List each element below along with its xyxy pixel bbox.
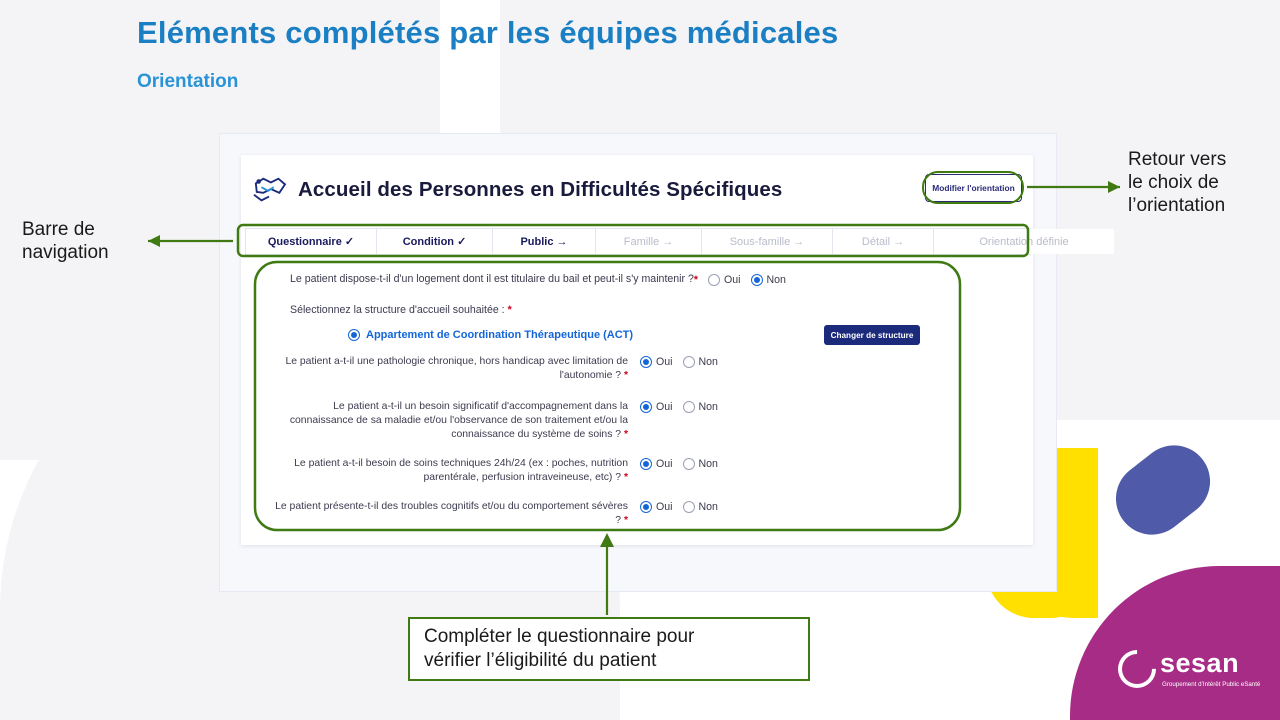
radio-q3-oui[interactable] [640,458,652,470]
radio-q2-non-label: Non [699,401,718,413]
tab-sous-famille: Sous-famille → [702,229,833,254]
question-2-option-non[interactable]: Non [683,401,718,413]
question-4-options[interactable]: Oui Non [640,500,718,513]
question-4-option-oui[interactable]: Oui [640,501,673,513]
radio-logement-oui-label: Oui [724,274,741,286]
required-mark-q3: * [624,472,628,483]
radio-q4-non[interactable] [683,501,695,513]
sesan-logo: sesan Groupement d’Intérêt Public eSanté [1118,650,1239,688]
radio-logement-oui[interactable] [708,274,720,286]
radio-q4-oui[interactable] [640,501,652,513]
radio-structure-act[interactable] [348,329,360,341]
radio-q1-non[interactable] [683,356,695,368]
select-structure-label: Sélectionnez la structure d'accueil souh… [290,304,505,316]
question-logement-option-non[interactable]: Non [751,274,786,286]
page-subtitle: Orientation [137,71,238,93]
bg-shape-magenta [1070,566,1280,720]
question-4-label-wrap: Le patient présente-t-il des troubles co… [268,500,628,528]
question-3-option-oui[interactable]: Oui [640,458,673,470]
question-logement-row: Le patient dispose-t-il d'un logement do… [290,273,950,286]
question-2-option-oui[interactable]: Oui [640,401,673,413]
annotation-navbar-line2: navigation [22,241,109,264]
annotation-callout-text: Compléter le questionnaire pour vérifier… [424,625,694,673]
question-3-label: Le patient a-t-il besoin de soins techni… [294,458,628,483]
radio-q3-non-label: Non [699,458,718,470]
structure-option-row[interactable]: Appartement de Coordination Thérapeutiqu… [348,329,633,341]
radio-q4-oui-label: Oui [656,501,673,513]
question-row-1: Le patient a-t-il une pathologie chroniq… [268,355,718,383]
radio-q2-oui-label: Oui [656,401,673,413]
annotation-retour-line3: l’orientation [1128,194,1226,217]
sesan-logo-subtitle: Groupement d’Intérêt Public eSanté [1162,681,1260,688]
radio-q1-oui[interactable] [640,356,652,368]
question-3-option-non[interactable]: Non [683,458,718,470]
tab-famille: Famille → [596,229,702,254]
required-mark-q4: * [624,515,628,526]
radio-q2-non[interactable] [683,401,695,413]
tab-public[interactable]: Public → [493,229,596,254]
select-structure-row: Sélectionnez la structure d'accueil souh… [290,304,512,316]
question-2-options[interactable]: Oui Non [640,400,718,413]
required-mark-structure: * [508,304,512,316]
question-row-2: Le patient a-t-il un besoin significatif… [268,400,718,442]
page-title: Eléments complétés par les équipes médic… [137,15,838,51]
required-mark-q1: * [624,370,628,381]
question-1-option-oui[interactable]: Oui [640,356,673,368]
radio-logement-non-label: Non [767,274,786,286]
question-1-options[interactable]: Oui Non [640,355,718,368]
annotation-navbar: Barre de navigation [22,218,109,264]
annotation-navbar-line1: Barre de [22,218,109,241]
questionnaire-form: Le patient dispose-t-il d'un logement do… [258,260,960,532]
question-4-option-non[interactable]: Non [683,501,718,513]
question-1-label-wrap: Le patient a-t-il une pathologie chroniq… [268,355,628,383]
question-logement-label: Le patient dispose-t-il d'un logement do… [290,273,694,286]
annotation-retour-line1: Retour vers [1128,148,1226,171]
annotation-callout-line2: vérifier l’éligibilité du patient [424,649,694,673]
question-3-label-wrap: Le patient a-t-il besoin de soins techni… [268,457,628,485]
radio-q1-non-label: Non [699,356,718,368]
radio-q3-non[interactable] [683,458,695,470]
question-2-label-wrap: Le patient a-t-il un besoin significatif… [268,400,628,442]
question-1-option-non[interactable]: Non [683,356,718,368]
required-mark: * [694,274,698,286]
question-row-3: Le patient a-t-il besoin de soins techni… [268,457,718,485]
question-2-label: Le patient a-t-il un besoin significatif… [290,401,628,440]
app-title: Accueil des Personnes en Difficultés Spé… [298,178,782,202]
sesan-logo-mark-icon [1110,642,1164,696]
question-row-4: Le patient présente-t-il des troubles co… [268,500,718,528]
annotation-callout-box: Compléter le questionnaire pour vérifier… [408,617,810,681]
annotation-callout-line1: Compléter le questionnaire pour [424,625,694,649]
question-logement-option-oui[interactable]: Oui [708,274,741,286]
app-header: Accueil des Personnes en Difficultés Spé… [250,168,1028,212]
radio-q3-oui-label: Oui [656,458,673,470]
radio-q4-non-label: Non [699,501,718,513]
question-4-label: Le patient présente-t-il des troubles co… [275,501,628,526]
tab-questionnaire[interactable]: Questionnaire ✓ [246,229,377,254]
bg-shape-purple-pill [1101,431,1224,549]
sesan-logo-word: sesan [1160,650,1239,677]
radio-logement-non[interactable] [751,274,763,286]
radio-q1-oui-label: Oui [656,356,673,368]
radio-q2-oui[interactable] [640,401,652,413]
question-3-options[interactable]: Oui Non [640,457,718,470]
tab-orientation-definie: Orientation définie [934,229,1114,254]
tab-detail: Détail → [833,229,934,254]
annotation-retour-line2: le choix de [1128,171,1226,194]
question-1-label: Le patient a-t-il une pathologie chroniq… [285,356,628,381]
change-structure-button[interactable]: Changer de structure [824,325,920,345]
navigation-tabs[interactable]: Questionnaire ✓ Condition ✓ Public → Fam… [245,228,1031,255]
handshake-icon [250,174,288,206]
required-mark-q2: * [624,429,628,440]
tab-condition[interactable]: Condition ✓ [377,229,493,254]
modify-orientation-button[interactable]: Modifier l'orientation [925,174,1022,202]
structure-option-label: Appartement de Coordination Thérapeutiqu… [366,329,633,341]
annotation-retour: Retour vers le choix de l’orientation [1128,148,1226,217]
